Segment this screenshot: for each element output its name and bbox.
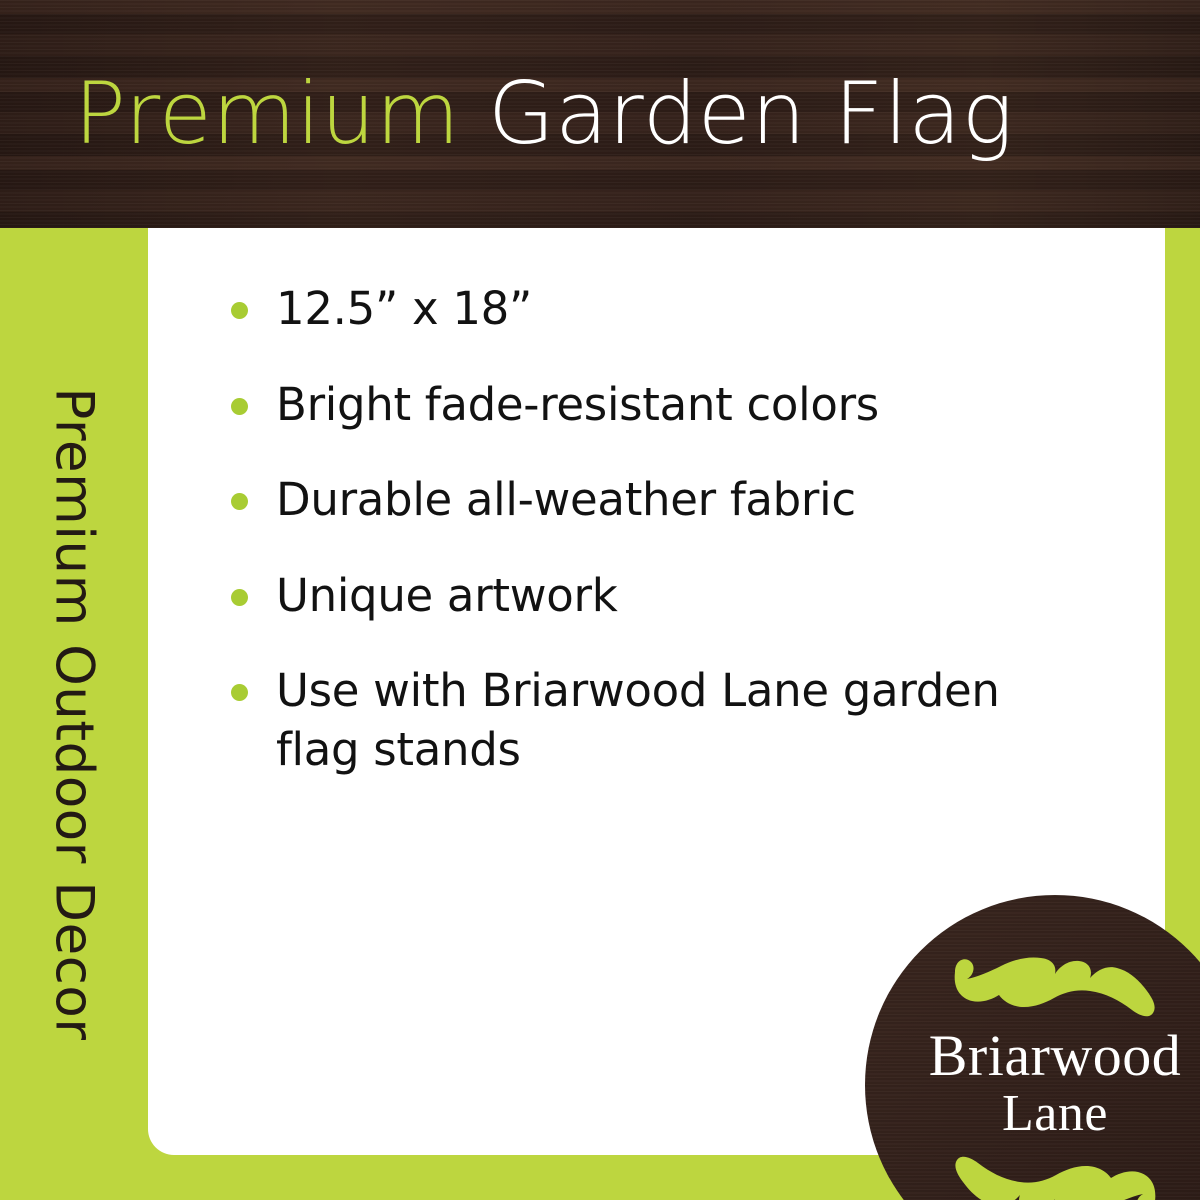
brand-name-line1: Briarwood [865,1027,1200,1085]
page-title-main-text: Garden Flag [488,64,1014,164]
bullet-dot-icon [231,398,248,415]
brand-logo-badge: Briarwood Lane [865,895,1200,1200]
bullet-dot-icon [231,302,248,319]
page-title-accent: Premium [74,64,460,164]
list-item: Durable all-weather fabric [226,471,1056,530]
list-item: Unique artwork [226,567,1056,626]
feature-list: 12.5” x 18” Bright fade-resistant colors… [226,280,1056,779]
list-item-label: Durable all-weather fabric [276,473,856,526]
brand-logo-inner: Briarwood Lane [865,895,1200,1200]
list-item: 12.5” x 18” [226,280,1056,339]
bullet-dot-icon [231,589,248,606]
list-item: Use with Briarwood Lane garden flag stan… [226,662,1056,779]
list-item: Bright fade-resistant colors [226,376,1056,435]
product-infographic: Premium Garden Flag Premium Outdoor Deco… [0,0,1200,1200]
brand-wordmark: Briarwood Lane [865,1027,1200,1143]
sidebar-banner: Premium Outdoor Decor [0,228,148,1200]
list-item-label: Use with Briarwood Lane garden flag stan… [276,664,1000,776]
page-title: Premium Garden Flag [74,71,1014,157]
list-item-label: Unique artwork [276,569,617,622]
leaf-ornament-top-icon [947,950,1163,1024]
bullet-dot-icon [231,493,248,510]
brand-name-line2: Lane [865,1085,1200,1143]
page-title-main [460,64,488,164]
bullet-dot-icon [231,684,248,701]
sidebar-vertical-label: Premium Outdoor Decor [44,387,105,1040]
list-item-label: 12.5” x 18” [276,282,532,335]
header-banner: Premium Garden Flag [0,0,1200,228]
list-item-label: Bright fade-resistant colors [276,378,879,431]
leaf-ornament-bottom-icon [947,1149,1163,1200]
